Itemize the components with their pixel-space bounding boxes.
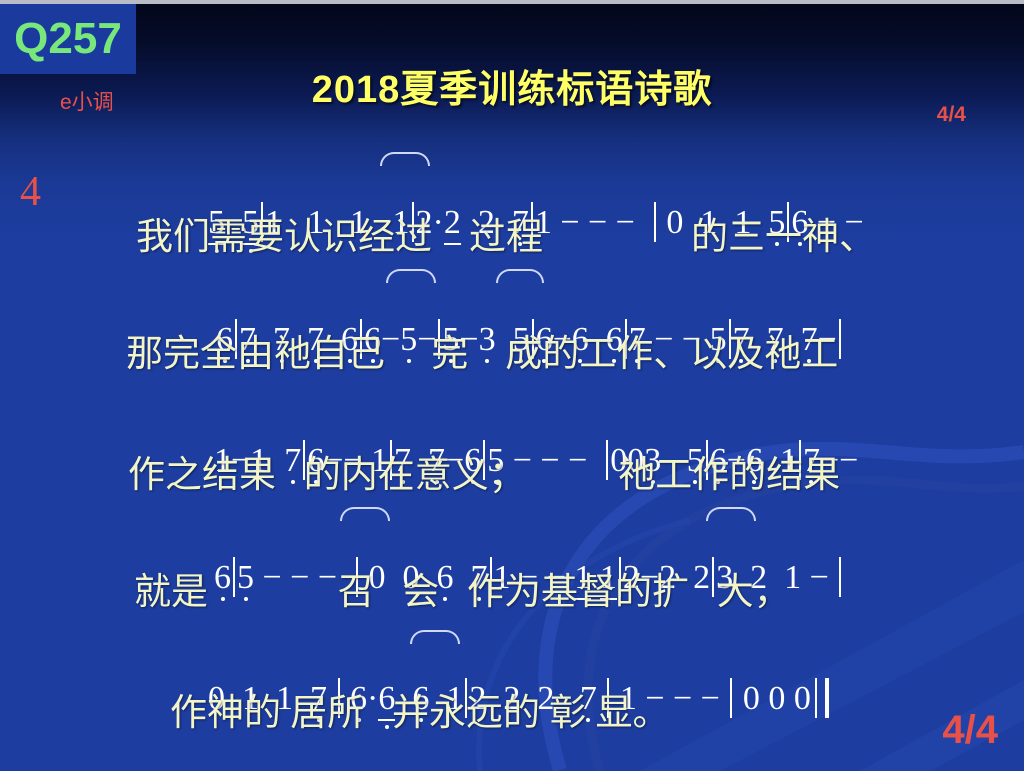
- tie-arc: [706, 507, 756, 521]
- lyrics-row-1: 我们需要认识经过 过程 的三一神、: [136, 206, 1024, 260]
- stave-line-5: 0 1 1 7 6·6 6 12 2 2 7 1 − − − 0 0 0 作神的…: [0, 626, 1024, 743]
- lyrics-row-3: 作之结果 的内在意义； 祂工作的结果: [128, 444, 1024, 498]
- tie-arc: [386, 269, 436, 283]
- lyrics-row-5: 作神的 居所 并永远的 彰 显。: [170, 682, 1024, 736]
- stave-line-4: 65 − − − 0 0 6 71 − − 1 12−2 23 2 1 − 就是…: [0, 509, 1024, 626]
- time-signature-bottom: 4/4: [942, 708, 998, 753]
- lyrics-row-2: 那完全由祂自己 完 成的工作、以及祂工: [126, 323, 1024, 377]
- tie-arc: [380, 152, 430, 166]
- stave-line-3: 1−1 76−− 17 7−65 − − − 003 56−6 17−− 作之结…: [0, 392, 1024, 509]
- top-border-strip: [0, 0, 1024, 4]
- music-score: 5 51 1 1 12·2 2 71 − − − 0 1 1 56 − − 我们…: [0, 158, 1024, 743]
- tie-arc: [410, 630, 460, 644]
- tie-arc: [496, 269, 544, 283]
- tie-arc: [340, 507, 390, 521]
- time-signature-top: 4/4: [937, 103, 966, 127]
- page-title: 2018夏季训练标语诗歌: [0, 58, 1024, 113]
- lyrics-row-4: 就是 召 会 作为基督的扩 大，: [134, 561, 1024, 615]
- stave-line-1: 5 51 1 1 12·2 2 71 − − − 0 1 1 56 − − 我们…: [0, 158, 1024, 275]
- stave-line-2: 67 7 7 66−5−5−3 56−6 67 − − 57 7 7− 那完全由…: [0, 275, 1024, 392]
- song-code-text: Q257: [14, 17, 122, 61]
- slide-canvas: Q257 e小调 2018夏季训练标语诗歌 4/4 4 5 51 1 1 12·…: [0, 0, 1024, 771]
